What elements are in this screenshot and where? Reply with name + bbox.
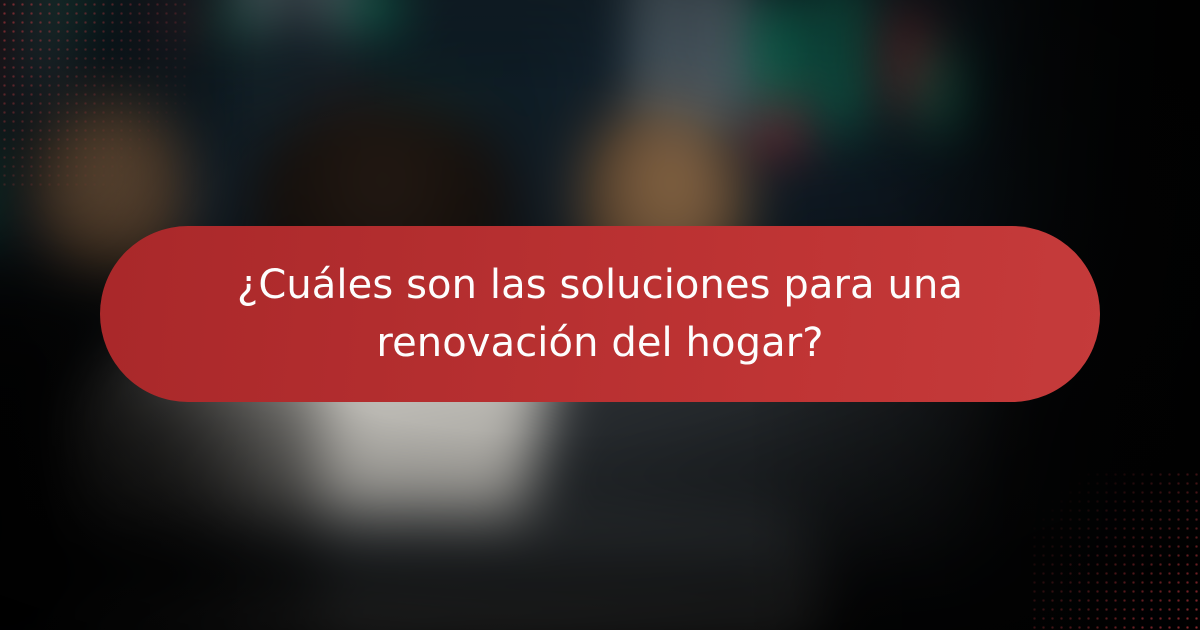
page-title: ¿Cuáles son las soluciones para una reno… bbox=[237, 256, 963, 372]
headline-line-2: renovación del hogar? bbox=[237, 314, 963, 372]
dot-pattern-bottom-right-icon bbox=[1030, 470, 1200, 630]
dot-pattern-top-left-icon bbox=[0, 0, 190, 190]
headline-banner: ¿Cuáles son las soluciones para una reno… bbox=[100, 226, 1100, 402]
headline-line-1: ¿Cuáles son las soluciones para una bbox=[237, 256, 963, 314]
social-card: ¿Cuáles son las soluciones para una reno… bbox=[0, 0, 1200, 630]
